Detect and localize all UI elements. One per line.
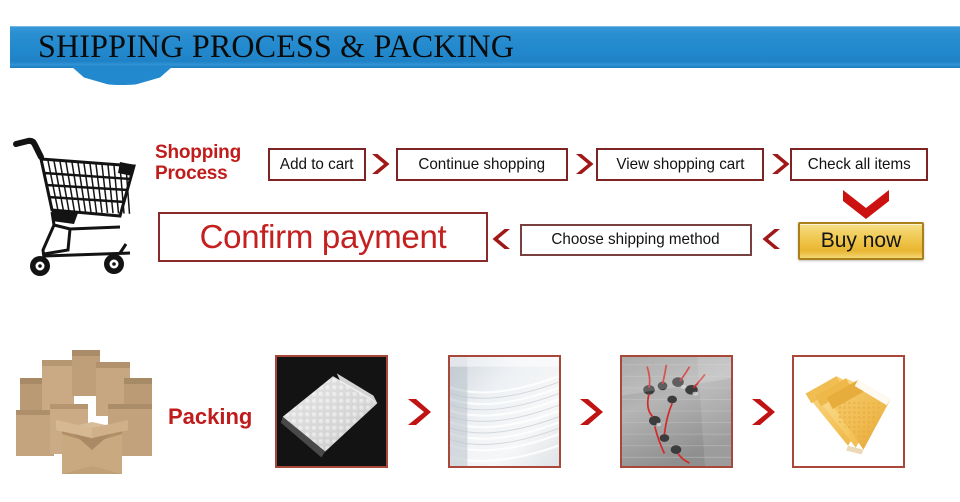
step-view-shopping-cart-label: View shopping cart [616, 157, 744, 173]
step-check-all-items-label: Check all items [807, 157, 910, 173]
step-view-shopping-cart[interactable]: View shopping cart [596, 148, 764, 181]
wrapped-items-photo [620, 355, 733, 468]
step-add-to-cart[interactable]: Add to cart [268, 148, 366, 181]
step-confirm-payment[interactable]: Confirm payment [158, 212, 488, 262]
shopping-process-label: Shopping Process [155, 142, 265, 184]
chevron-right-icon [572, 151, 594, 177]
step-check-all-items[interactable]: Check all items [790, 148, 928, 181]
shopping-process-label-line1: Shopping [155, 142, 265, 163]
step-confirm-payment-label: Confirm payment [200, 218, 447, 256]
white-poly-wrap-photo [448, 355, 561, 468]
chevron-right-icon [404, 396, 432, 428]
buy-now-button[interactable]: Buy now [798, 222, 924, 260]
chevron-left-icon [492, 226, 514, 252]
kraft-bubble-mailers-photo [792, 355, 905, 468]
packing-label: Packing [168, 404, 252, 430]
step-choose-shipping-method[interactable]: Choose shipping method [520, 224, 752, 256]
page-header-banner: SHIPPING PROCESS & PACKING [10, 26, 960, 68]
banner-notch-tab [72, 67, 172, 85]
page-title: SHIPPING PROCESS & PACKING [38, 27, 514, 68]
chevron-right-icon [748, 396, 776, 428]
buy-now-button-label: Buy now [821, 229, 902, 253]
step-choose-shipping-method-label: Choose shipping method [552, 232, 720, 248]
shopping-process-label-line2: Process [155, 163, 265, 184]
chevron-right-icon [576, 396, 604, 428]
chevron-left-icon [762, 226, 784, 252]
step-add-to-cart-label: Add to cart [280, 157, 354, 173]
step-continue-shopping-label: Continue shopping [419, 157, 546, 173]
chevron-right-icon [768, 151, 790, 177]
chevron-down-icon [840, 186, 892, 222]
cardboard-boxes-icon [12, 338, 172, 478]
step-continue-shopping[interactable]: Continue shopping [396, 148, 568, 181]
shopping-cart-icon [8, 132, 140, 277]
bubble-wrap-roll-photo [275, 355, 388, 468]
chevron-right-icon [368, 151, 390, 177]
